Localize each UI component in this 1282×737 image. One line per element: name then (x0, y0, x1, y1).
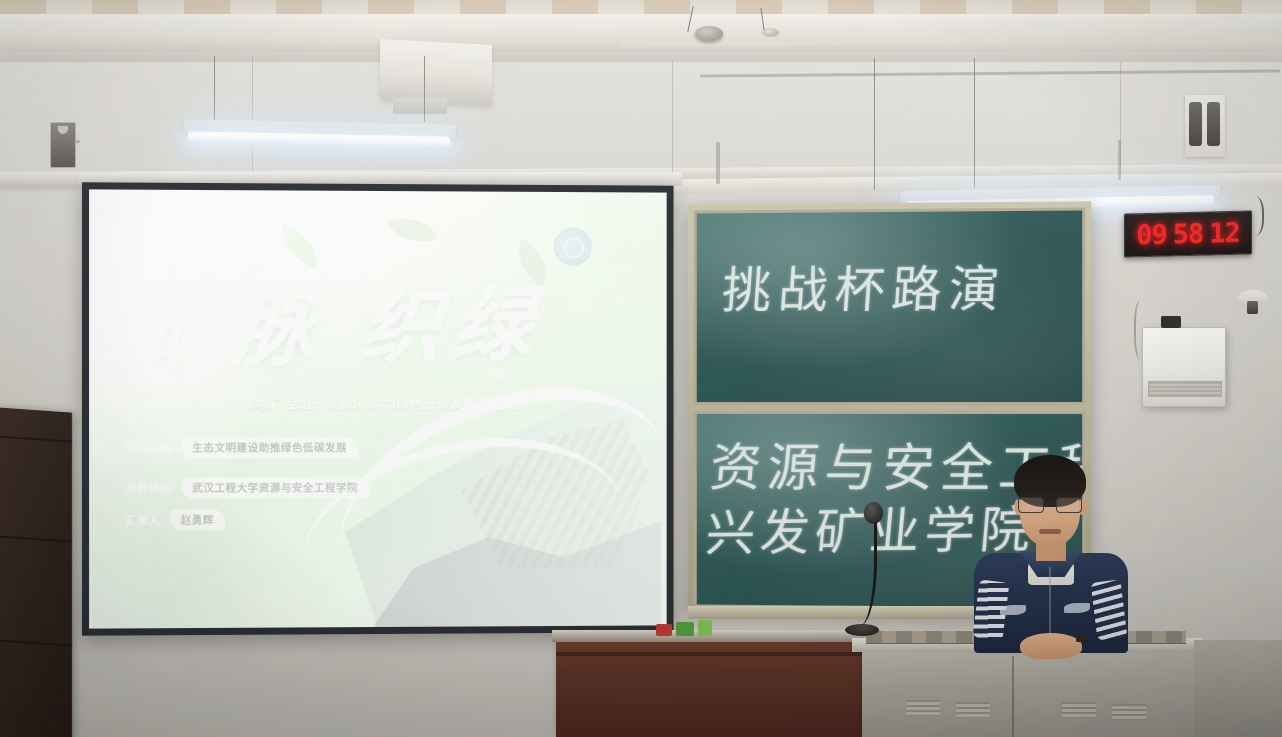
desk-item-green (676, 622, 694, 636)
slide-watermark: 挑战杯 (231, 256, 258, 269)
right-cabinet (1194, 640, 1282, 737)
eyeglass-bridge (1044, 503, 1056, 505)
wall-speaker-box (50, 122, 76, 168)
wall-seam (672, 60, 673, 176)
wall-seam (252, 56, 253, 174)
slide-meta-value: 赵勇辉 (170, 509, 225, 530)
fixture-lamp (1189, 102, 1202, 146)
presenter-wristwatch (1076, 633, 1088, 642)
slide-title: 矿脉织绿 (138, 283, 645, 372)
slide-meta-label: 参赛单位 (126, 480, 173, 495)
slide-tagline-mid: 助力绿色低碳发展 (370, 396, 477, 411)
eyeglass-lens (1056, 497, 1082, 513)
presenter (960, 455, 1140, 650)
clock-minutes: 58 (1173, 218, 1204, 250)
blackboard-heading: 挑战杯路演 (720, 249, 1009, 322)
clock-hours: 09 (1136, 219, 1167, 251)
slide-meta-row: 参赛单位 武汉工程大学资源与安全工程学院 (126, 477, 369, 499)
wall-conduit (1118, 140, 1121, 180)
slide-secondary-mark: 绿 (613, 232, 639, 269)
desk-edge (556, 652, 886, 656)
slide-meta-value: 生态文明建设助推绿色低碳发展 (181, 437, 358, 458)
presenter-jacket-logo (1000, 605, 1026, 615)
wall-amplifier-unit (1142, 327, 1226, 407)
slide-tagline-main: 全组分资源化 (285, 396, 366, 411)
speaker-grille (1148, 381, 1222, 397)
dome-camera-icon (1238, 290, 1268, 306)
slide-meta-label: 项目归属 (126, 440, 173, 455)
podium-vent (1112, 704, 1146, 720)
ceiling-duct (380, 39, 492, 105)
slide-meta-value: 武汉工程大学资源与安全工程学院 (181, 477, 369, 498)
slide-watermark: 绿色 (409, 243, 427, 256)
light-hanger (424, 56, 425, 122)
podium-door-seam (1012, 656, 1014, 737)
projection-screen: 挑战杯 中国大学生创业计划竞赛 绿 挑战杯 绿色 矿脉 矿脉织绿 磷尾矿 全组分… (82, 182, 674, 635)
smoke-detector-icon (695, 26, 723, 41)
slide-competition-brand: 挑战杯 (124, 228, 218, 258)
ceiling-duct-bracket (393, 98, 447, 114)
slide-meta-label: 汇报人 (126, 513, 161, 528)
ceiling-beam-shadow (0, 52, 1282, 62)
wall-light-fixture (1185, 95, 1225, 157)
slide-tagline: 磷尾矿 全组分资源化 助力绿色低碳发展 新生态 (241, 393, 521, 412)
microphone-base (845, 624, 879, 636)
wall-conduit (716, 142, 720, 184)
podium-vent (1062, 702, 1096, 718)
presentation-slide: 挑战杯 中国大学生创业计划竞赛 绿 挑战杯 绿色 矿脉 矿脉织绿 磷尾矿 全组分… (89, 189, 667, 628)
presenter-eyebrow (1058, 491, 1078, 494)
light-hanger (214, 56, 215, 124)
presenter-hands (1020, 633, 1082, 659)
presenter-mouth (1039, 529, 1061, 534)
metal-podium (862, 646, 1194, 737)
fixture-lamp (1207, 102, 1220, 146)
desk-item-green (698, 620, 712, 636)
slide-artwork-leaf (273, 224, 325, 267)
presenter-eyebrow (1022, 491, 1042, 494)
podium-vent (906, 700, 940, 716)
slide-title-left: 矿脉 (137, 281, 331, 379)
light-hanger (874, 58, 875, 190)
led-wall-clock: 09 58 12 (1124, 210, 1252, 257)
clock-seconds: 12 (1209, 217, 1240, 249)
amplifier-connector (1161, 316, 1181, 328)
microphone-head-icon (864, 502, 883, 524)
slide-title-right: 织绿 (357, 277, 548, 374)
screen-surface: 挑战杯 中国大学生创业计划竞赛 绿 挑战杯 绿色 矿脉 矿脉织绿 磷尾矿 全组分… (89, 189, 667, 628)
university-seal-icon (554, 228, 592, 266)
presenter-jacket-logo (1064, 603, 1090, 613)
wooden-door[interactable] (0, 407, 72, 737)
slide-tagline-suffix: 新生态 (481, 396, 521, 411)
desk-surface (552, 630, 892, 642)
podium-vent (956, 702, 990, 718)
classroom-photo: 09 58 12 挑战杯 中国大学生创业计划竞赛 绿 挑战杯 绿色 (0, 0, 1282, 737)
desk-item-red (656, 624, 672, 636)
eyeglass-lens (1018, 497, 1044, 513)
slide-tagline-prefix: 磷尾矿 (241, 396, 281, 411)
blackboard-upper-panel: 挑战杯路演 (694, 207, 1085, 405)
slide-meta-row: 汇报人 赵勇辉 (126, 509, 225, 530)
eyeglasses-icon (1018, 497, 1082, 512)
slide-meta-row: 项目归属 生态文明建设助推绿色低碳发展 (126, 437, 358, 458)
light-hanger (974, 58, 975, 188)
